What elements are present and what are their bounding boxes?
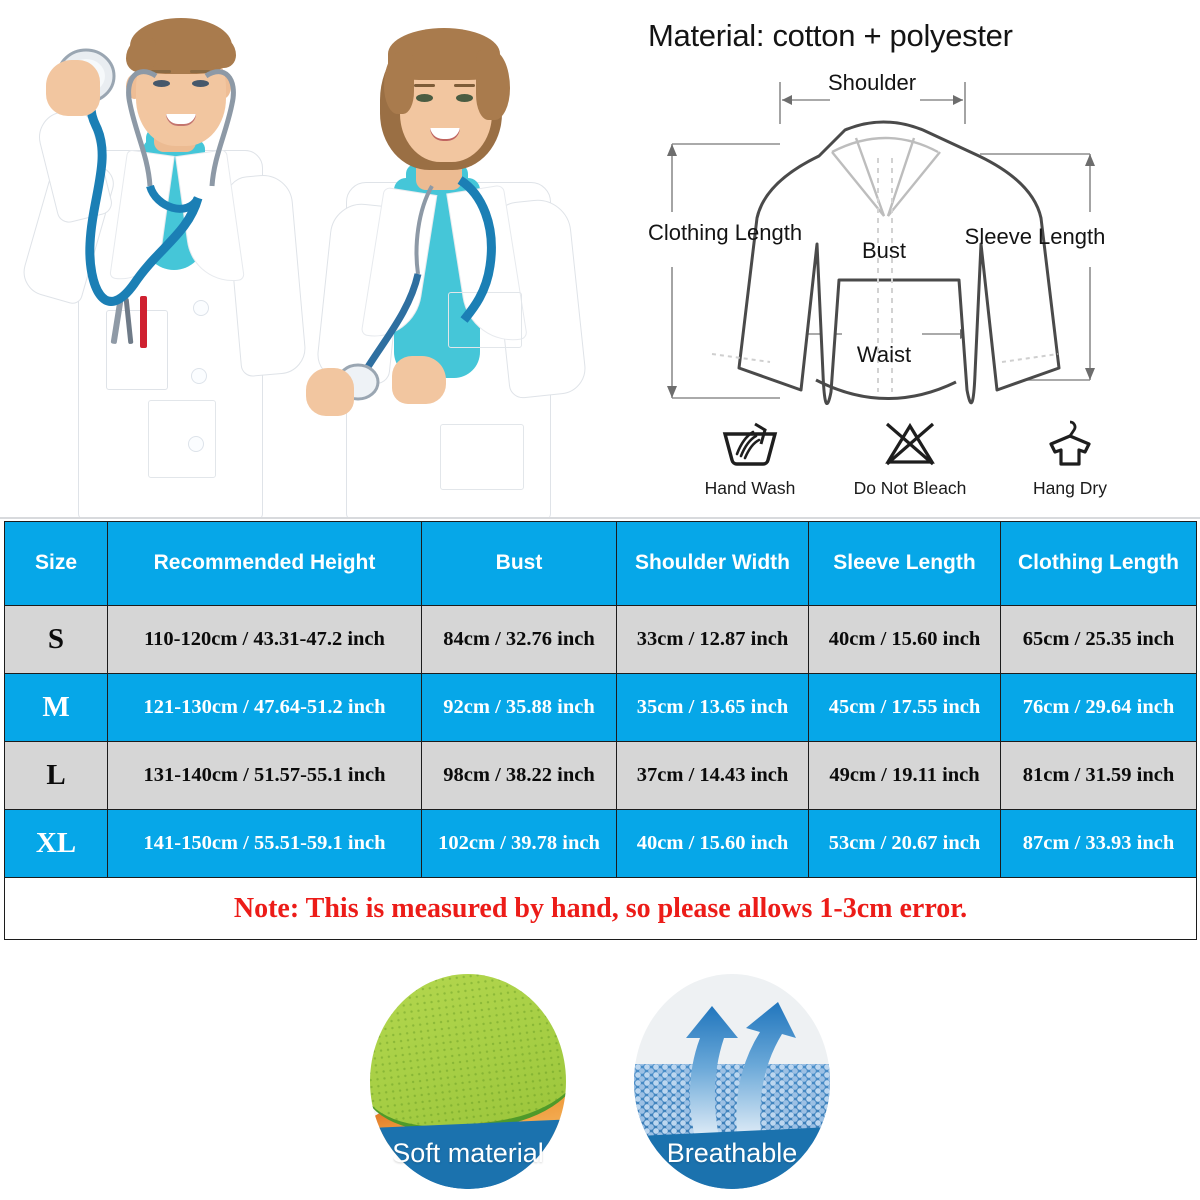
badge-caption: Breathable: [634, 1138, 830, 1169]
badge-caption: Soft material: [370, 1138, 566, 1169]
material-title: Material: cotton + polyester: [648, 18, 1013, 54]
label-waist: Waist: [857, 342, 911, 367]
care-item-do-not-bleach: Do Not Bleach: [840, 418, 980, 499]
hang-dry-icon: [1039, 418, 1101, 470]
cell-sleeve: 53cm / 20.67 inch: [809, 810, 1001, 878]
hand-wash-icon: [719, 418, 781, 470]
badge-breathable: Breathable: [634, 974, 830, 1189]
size-chart-table: Size Recommended Height Bust Shoulder Wi…: [4, 521, 1197, 940]
table-row: M 121-130cm / 47.64-51.2 inch 92cm / 35.…: [5, 674, 1197, 742]
cell-sleeve: 40cm / 15.60 inch: [809, 606, 1001, 674]
care-label: Hang Dry: [1000, 478, 1140, 499]
table-header-row: Size Recommended Height Bust Shoulder Wi…: [5, 522, 1197, 606]
care-instructions: Hand Wash Do Not Bleach Hang Dry: [680, 418, 1140, 499]
column-header-height: Recommended Height: [108, 522, 422, 606]
cell-shoulder: 37cm / 14.43 inch: [617, 742, 809, 810]
cell-shoulder: 40cm / 15.60 inch: [617, 810, 809, 878]
table-row: L 131-140cm / 51.57-55.1 inch 98cm / 38.…: [5, 742, 1197, 810]
cell-height: 141-150cm / 55.51-59.1 inch: [108, 810, 422, 878]
cell-sleeve: 45cm / 17.55 inch: [809, 674, 1001, 742]
label-clothing-length: Clothing Length: [648, 220, 802, 245]
top-section: Material: cotton + polyester: [0, 0, 1200, 518]
label-sleeve-length: Sleeve Length: [965, 224, 1106, 249]
cell-shoulder: 33cm / 12.87 inch: [617, 606, 809, 674]
cell-bust: 84cm / 32.76 inch: [422, 606, 617, 674]
product-size-chart-page: Material: cotton + polyester: [0, 0, 1200, 1200]
cell-size: M: [5, 674, 108, 742]
photo-girl-in-lab-coat: [288, 0, 608, 518]
cell-size: L: [5, 742, 108, 810]
cell-bust: 98cm / 38.22 inch: [422, 742, 617, 810]
cell-bust: 102cm / 39.78 inch: [422, 810, 617, 878]
cell-size: XL: [5, 810, 108, 878]
column-header-clothing-length: Clothing Length: [1001, 522, 1197, 606]
table-note-row: Note: This is measured by hand, so pleas…: [5, 878, 1197, 940]
column-header-size: Size: [5, 522, 108, 606]
column-header-bust: Bust: [422, 522, 617, 606]
care-label: Do Not Bleach: [840, 478, 980, 499]
garment-measurement-diagram: Shoulder Clothing Length Sleeve Length B…: [630, 62, 1170, 412]
cell-size: S: [5, 606, 108, 674]
photo-boy-in-lab-coat: [18, 0, 318, 518]
cell-clothing: 65cm / 25.35 inch: [1001, 606, 1197, 674]
cell-height: 131-140cm / 51.57-55.1 inch: [108, 742, 422, 810]
column-header-sleeve-length: Sleeve Length: [809, 522, 1001, 606]
column-header-shoulder-width: Shoulder Width: [617, 522, 809, 606]
table-row: XL 141-150cm / 55.51-59.1 inch 102cm / 3…: [5, 810, 1197, 878]
product-photos: [0, 0, 620, 518]
care-item-hand-wash: Hand Wash: [680, 418, 820, 499]
table-row: S 110-120cm / 43.31-47.2 inch 84cm / 32.…: [5, 606, 1197, 674]
cell-clothing: 81cm / 31.59 inch: [1001, 742, 1197, 810]
cell-clothing: 76cm / 29.64 inch: [1001, 674, 1197, 742]
cell-height: 121-130cm / 47.64-51.2 inch: [108, 674, 422, 742]
badge-soft-material: Soft material: [370, 974, 566, 1189]
cell-sleeve: 49cm / 19.11 inch: [809, 742, 1001, 810]
size-table-container: Size Recommended Height Bust Shoulder Wi…: [4, 521, 1196, 940]
material-diagram-area: Material: cotton + polyester: [620, 0, 1200, 518]
cell-shoulder: 35cm / 13.65 inch: [617, 674, 809, 742]
do-not-bleach-icon: [879, 418, 941, 470]
measurement-note: Note: This is measured by hand, so pleas…: [5, 878, 1197, 940]
care-item-hang-dry: Hang Dry: [1000, 418, 1140, 499]
section-divider-top: [0, 517, 1200, 519]
care-label: Hand Wash: [680, 478, 820, 499]
label-bust: Bust: [862, 238, 906, 263]
label-shoulder: Shoulder: [828, 70, 916, 95]
cell-bust: 92cm / 35.88 inch: [422, 674, 617, 742]
cell-clothing: 87cm / 33.93 inch: [1001, 810, 1197, 878]
feature-badges: Soft material Brea: [0, 963, 1200, 1200]
cell-height: 110-120cm / 43.31-47.2 inch: [108, 606, 422, 674]
